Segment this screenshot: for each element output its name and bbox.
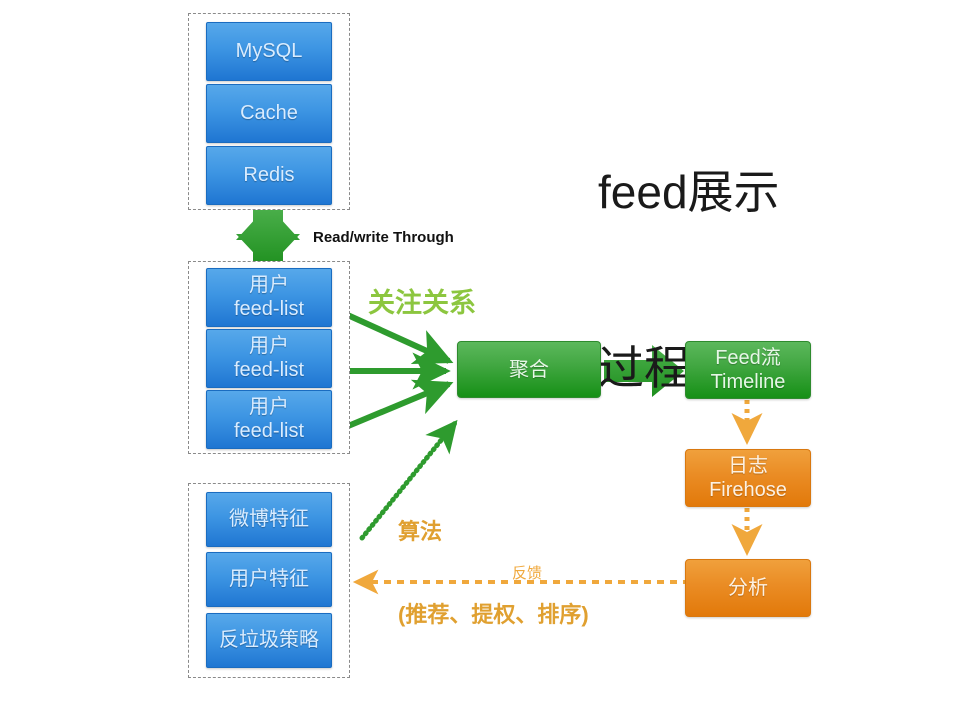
feed-list-box-3-line2: feed-list [234,420,304,444]
algorithm-label-line1: 算法 [398,518,589,546]
features-box-antispam[interactable]: 反垃圾策略 [206,613,332,668]
features-box-user-label: 用户特征 [229,568,309,592]
algorithm-label-line2: (推荐、提权、排序) [398,601,589,629]
feed-list-box-3-line1: 用户 [249,396,289,420]
storage-box-cache-label: Cache [240,102,298,126]
features-box-weibo-label: 微博特征 [229,508,309,532]
storage-box-cache[interactable]: Cache [206,84,332,143]
bidirectional-arrow-icon [236,205,300,268]
features-box-antispam-label: 反垃圾策略 [219,629,319,653]
read-write-through-label: Read/write Through [313,229,454,246]
page-title-line1: feed展示 [598,163,780,222]
storage-box-redis[interactable]: Redis [206,146,332,205]
firehose-node-line1: 日志 [728,454,768,478]
aggregate-node[interactable]: 聚合 [457,341,601,398]
timeline-node-line2: Timeline [711,370,786,394]
timeline-node[interactable]: Feed流 Timeline [685,341,811,399]
feedback-label: 反馈 [512,562,542,583]
features-box-weibo[interactable]: 微博特征 [206,492,332,547]
diagram-canvas: feed展示 过程 MySQL Cache Redis Read/write T… [0,0,959,720]
features-box-user[interactable]: 用户特征 [206,552,332,607]
feed-list-box-2-line2: feed-list [234,359,304,383]
follow-relation-label: 关注关系 [368,281,476,320]
timeline-node-line1: Feed流 [715,346,781,370]
storage-box-redis-label: Redis [243,164,294,188]
firehose-node-line2: Firehose [709,478,787,502]
analysis-node-label: 分析 [728,576,768,600]
storage-box-mysql[interactable]: MySQL [206,22,332,81]
feed-list-box-2-line1: 用户 [249,335,289,359]
feedlist-to-aggregate-arrows [341,312,449,429]
feed-list-box-2[interactable]: 用户 feed-list [206,329,332,388]
storage-box-mysql-label: MySQL [236,40,303,64]
page-title: feed展示 过程 [598,45,780,516]
feed-list-box-1-line2: feed-list [234,298,304,322]
firehose-node[interactable]: 日志 Firehose [685,449,811,507]
analysis-node[interactable]: 分析 [685,559,811,617]
algorithm-label: 算法 (推荐、提权、排序) [398,463,589,683]
feed-list-box-1[interactable]: 用户 feed-list [206,268,332,327]
feed-list-box-1-line1: 用户 [249,274,289,298]
aggregate-node-label: 聚合 [509,358,549,382]
feed-list-box-3[interactable]: 用户 feed-list [206,390,332,449]
